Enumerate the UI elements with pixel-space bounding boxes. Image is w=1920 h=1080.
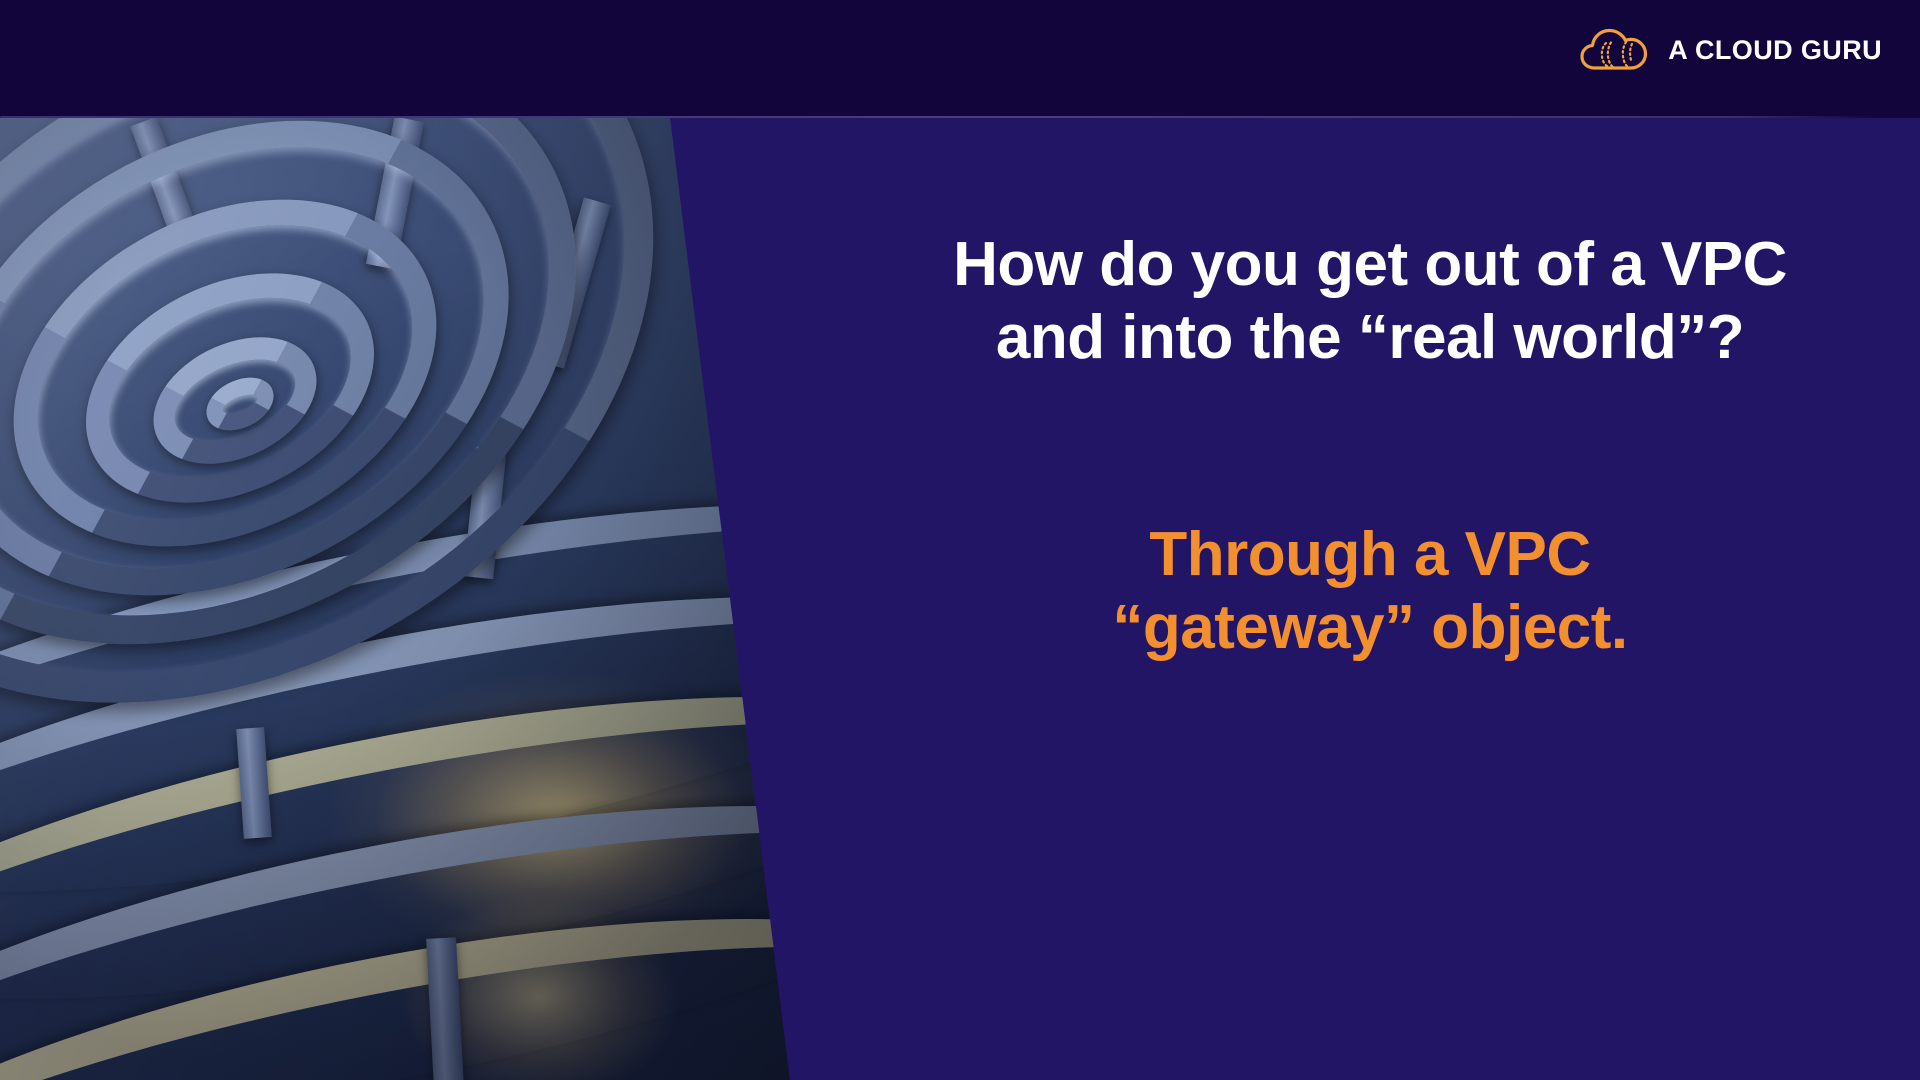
maze-wall xyxy=(130,118,197,239)
maze-sheen xyxy=(0,118,800,1080)
slide: VIRTUAL PRIVATE GATEWAY There Must Be So… xyxy=(0,0,1920,1080)
question-line-1: How do you get out of a VPC xyxy=(820,228,1920,301)
maze-arc xyxy=(0,721,800,1080)
header-divider xyxy=(0,116,1880,118)
logo-text: A CLOUD GURU xyxy=(1668,35,1882,66)
question-line-2: and into the “real world”? xyxy=(820,301,1920,374)
question-text: How do you get out of a VPC and into the… xyxy=(820,228,1920,374)
maze-ring xyxy=(201,369,278,440)
cloud-icon xyxy=(1580,28,1654,72)
maze-ring xyxy=(0,141,469,604)
maze-arc xyxy=(0,515,800,1080)
maze-ring xyxy=(142,315,329,486)
answer-text: Through a VPC “gateway” object. xyxy=(820,518,1920,664)
maze-wall xyxy=(537,197,611,368)
maze-ring xyxy=(0,118,725,824)
maze-wall xyxy=(426,937,464,1080)
answer-line-1: Through a VPC xyxy=(820,518,1920,591)
maze-wall xyxy=(366,118,424,269)
slide-content: How do you get out of a VPC and into the… xyxy=(820,118,1920,1080)
maze-wall xyxy=(236,727,272,839)
maze-arc xyxy=(0,833,800,1080)
maze-vignette xyxy=(0,118,800,1080)
maze-ring xyxy=(0,118,633,743)
maze-wall xyxy=(463,447,506,579)
maze-ring xyxy=(0,118,554,674)
maze-arc xyxy=(0,613,800,1080)
answer-line-2: “gateway” object. xyxy=(820,591,1920,664)
maze-arc xyxy=(0,425,800,971)
maze-render xyxy=(0,118,800,1080)
maze-image xyxy=(0,118,800,1080)
brand-logo[interactable]: A CLOUD GURU xyxy=(1580,28,1882,72)
maze-ring xyxy=(64,234,395,542)
